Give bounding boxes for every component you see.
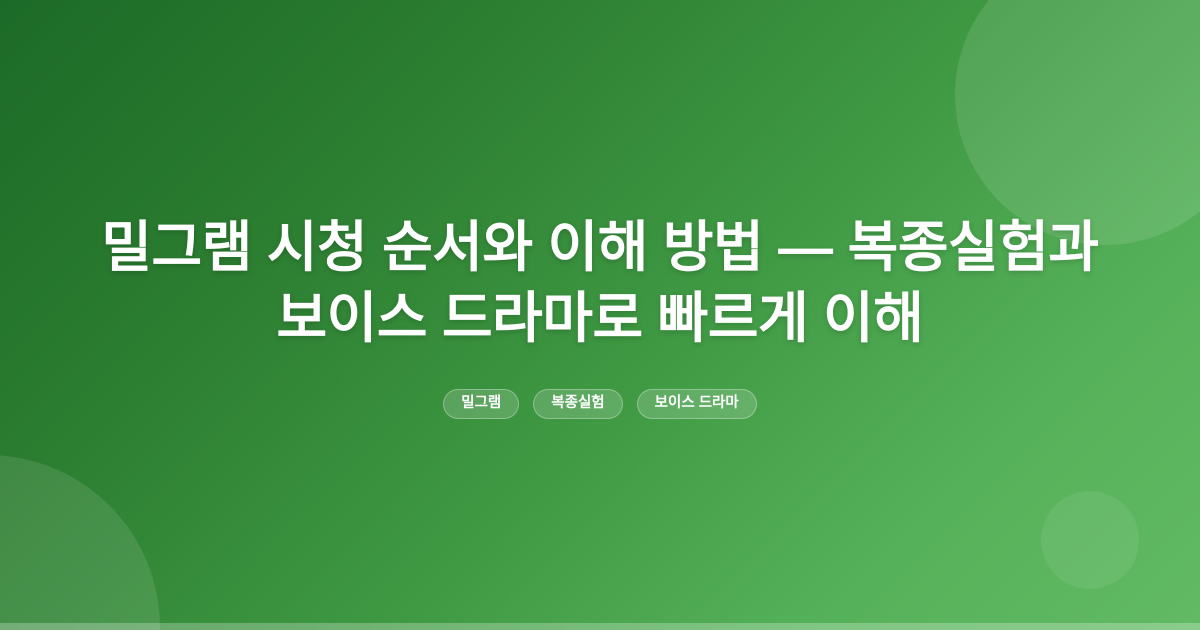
tag-pill-2[interactable]: 복종실험: [533, 389, 622, 419]
tag-list: 밀그램 복종실험 보이스 드라마: [443, 389, 756, 419]
tag-pill-1[interactable]: 밀그램: [443, 389, 519, 419]
tag-pill-3[interactable]: 보이스 드라마: [637, 389, 757, 419]
og-share-card: 밀그램 시청 순서와 이해 방법 — 복종실험과 보이스 드라마로 빠르게 이해…: [0, 0, 1200, 630]
bottom-accent-strip: [0, 623, 1200, 630]
card-title: 밀그램 시청 순서와 이해 방법 — 복종실험과 보이스 드라마로 빠르게 이해: [100, 212, 1100, 355]
card-content: 밀그램 시청 순서와 이해 방법 — 복종실험과 보이스 드라마로 빠르게 이해…: [0, 0, 1200, 630]
